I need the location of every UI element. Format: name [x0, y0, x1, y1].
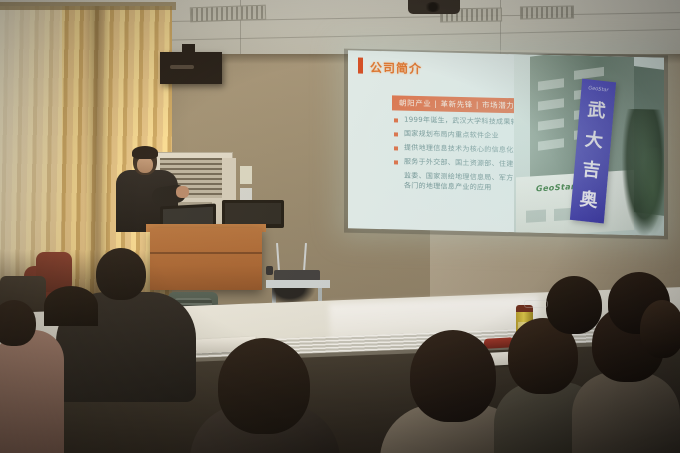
podium-edge	[150, 252, 262, 254]
ceiling-vent	[520, 6, 574, 20]
presenter-face	[137, 157, 153, 173]
side-table	[266, 280, 330, 288]
bullet-square-icon	[394, 118, 398, 122]
audience-person-head	[218, 338, 310, 434]
slide-title: 公司简介	[370, 59, 422, 77]
wall-speaker-mount	[182, 44, 195, 54]
slide-building-photo: GeoStar GeoStar 武 大 吉 奥	[514, 54, 664, 236]
laptop-screen	[225, 203, 281, 224]
banner-character: 奥	[571, 190, 606, 212]
banner-logo-text: GeoStar	[581, 85, 615, 95]
presenter-hand	[176, 186, 189, 198]
conference-room-photo: 公司简介 朝阳产业 | 革新先锋 | 市场潜力巨大 1999年诞生，武汉大学科技…	[0, 0, 680, 453]
podium	[150, 228, 262, 290]
audience-person-head	[640, 300, 680, 358]
projector-lens-icon	[425, 2, 441, 12]
banner-character: 武	[579, 100, 614, 122]
audience-person-body	[572, 372, 680, 453]
ceiling-vent	[190, 5, 266, 23]
audience-person-head	[96, 248, 146, 300]
projection-screen: 公司简介 朝阳产业 | 革新先锋 | 市场潜力巨大 1999年诞生，武汉大学科技…	[348, 50, 664, 235]
audience-person-head	[410, 330, 496, 422]
audience-person-head	[44, 286, 98, 326]
bullet-text: 国家规划布局内重点软件企业	[404, 130, 499, 142]
curtain-rail	[0, 2, 176, 10]
receiver-indicator	[266, 266, 273, 275]
banner-character: 吉	[574, 160, 609, 182]
audience-person-body	[0, 330, 64, 453]
speaker-grille-icon	[170, 65, 194, 69]
eyeglasses-icon	[524, 300, 548, 308]
presenter-hair	[132, 146, 158, 159]
audience-person-head	[546, 276, 602, 334]
bullet-square-icon	[394, 146, 398, 150]
wall-poster	[240, 166, 252, 184]
slide-title-accent-bar	[358, 58, 363, 74]
bullet-square-icon	[394, 160, 398, 164]
banner-character: 大	[576, 130, 611, 152]
photo-tree	[638, 147, 664, 236]
bullet-square-icon	[394, 132, 398, 136]
